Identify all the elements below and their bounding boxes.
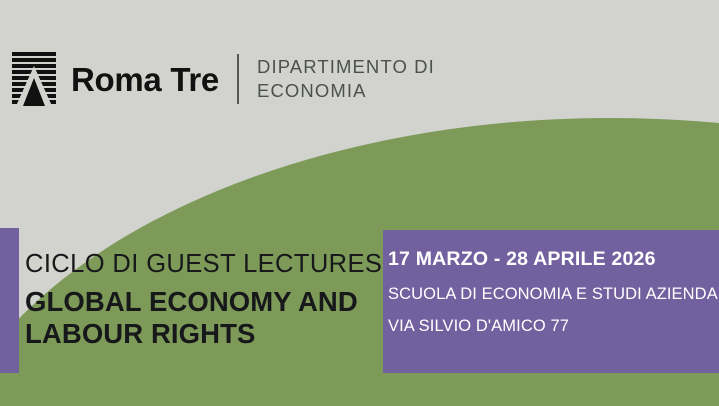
poster-canvas: Roma Tre DIPARTIMENTO DI ECONOMIA CICLO … <box>0 0 719 406</box>
event-venue: SCUOLA DI ECONOMIA E STUDI AZIENDALI <box>388 285 719 304</box>
logo-department-label: DIPARTIMENTO DI ECONOMIA <box>257 55 435 104</box>
event-kicker: CICLO DI GUEST LECTURES <box>25 250 382 278</box>
event-address: VIA SILVIO D'AMICO 77 <box>388 317 719 336</box>
roma-tre-arch-logo-icon <box>12 52 56 106</box>
bottom-clipped-caption-strip <box>0 398 719 406</box>
left-accent-bar <box>0 228 19 373</box>
logo-wordmark: Roma Tre <box>71 63 219 96</box>
event-info-panel: 17 MARZO - 28 APRILE 2026 SCUOLA DI ECON… <box>383 230 719 373</box>
title-block: CICLO DI GUEST LECTURES GLOBAL ECONOMY A… <box>25 250 382 350</box>
event-dates: 17 MARZO - 28 APRILE 2026 <box>388 249 719 270</box>
roma-tre-logo-lockup: Roma Tre DIPARTIMENTO DI ECONOMIA <box>12 52 435 106</box>
logo-divider <box>237 54 239 104</box>
event-headline: GLOBAL ECONOMY AND LABOUR RIGHTS <box>25 286 382 350</box>
